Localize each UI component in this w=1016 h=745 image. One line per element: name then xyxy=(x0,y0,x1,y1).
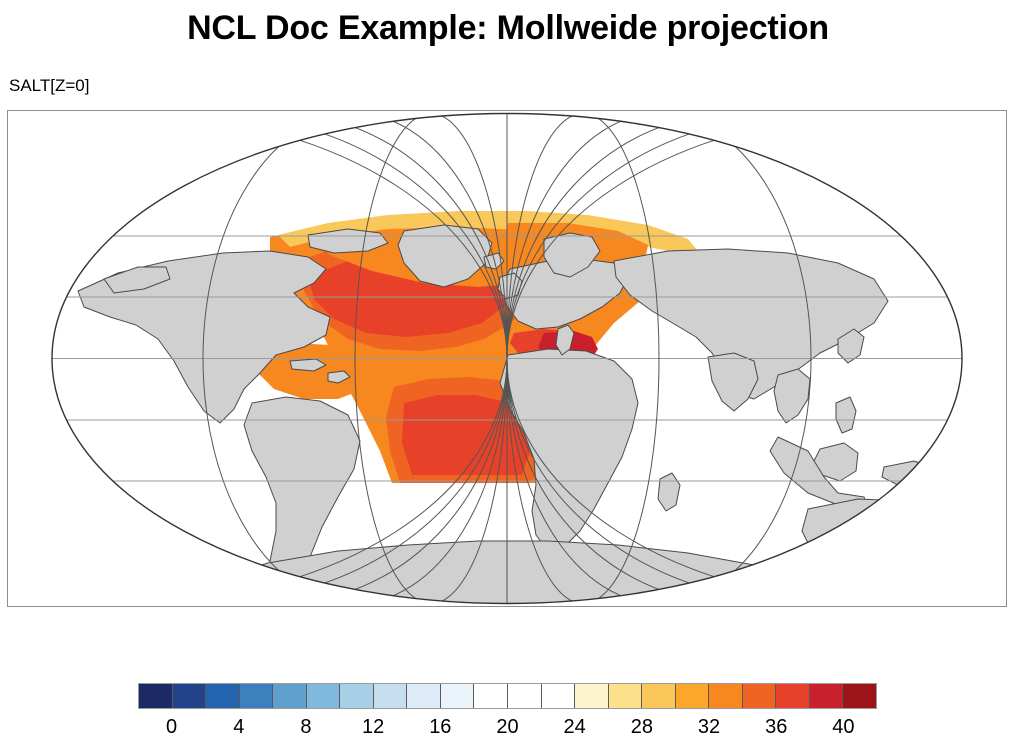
colorbar-cell-19 xyxy=(776,684,810,708)
colorbar-cell-20 xyxy=(810,684,844,708)
mollweide-map-canvas xyxy=(8,111,1006,606)
colorbar-cell-17 xyxy=(709,684,743,708)
land-australia xyxy=(802,499,948,581)
colorbar-cell-13 xyxy=(575,684,609,708)
mollweide-map-plot: NCL Doc Example: Mollweide projection SA… xyxy=(0,0,1016,745)
colorbar-cells xyxy=(138,683,877,709)
colorbar-cell-9 xyxy=(441,684,475,708)
colorbar-cell-8 xyxy=(407,684,441,708)
colorbar-tick-40: 40 xyxy=(832,714,854,740)
page-title: NCL Doc Example: Mollweide projection xyxy=(0,6,1016,50)
colorbar-cell-15 xyxy=(642,684,676,708)
land-new-zealand xyxy=(956,557,976,583)
map-frame xyxy=(7,110,1007,607)
colorbar-tick-28: 28 xyxy=(631,714,653,740)
colorbar-cell-21 xyxy=(843,684,876,708)
colorbar-cell-5 xyxy=(307,684,341,708)
colorbar-tick-labels: 0481216202428323640 xyxy=(0,714,1016,742)
colorbar-cell-3 xyxy=(240,684,274,708)
colorbar xyxy=(138,683,877,709)
colorbar-tick-16: 16 xyxy=(429,714,451,740)
colorbar-cell-7 xyxy=(374,684,408,708)
land-layer xyxy=(78,225,976,606)
colorbar-tick-24: 24 xyxy=(564,714,586,740)
colorbar-tick-4: 4 xyxy=(233,714,244,740)
colorbar-cell-1 xyxy=(173,684,207,708)
colorbar-tick-0: 0 xyxy=(166,714,177,740)
colorbar-cell-6 xyxy=(340,684,374,708)
colorbar-cell-11 xyxy=(508,684,542,708)
colorbar-cell-16 xyxy=(676,684,710,708)
colorbar-tick-36: 36 xyxy=(765,714,787,740)
variable-label: SALT[Z=0] xyxy=(9,76,89,96)
colorbar-tick-12: 12 xyxy=(362,714,384,740)
colorbar-tick-20: 20 xyxy=(496,714,518,740)
colorbar-cell-18 xyxy=(743,684,777,708)
colorbar-cell-2 xyxy=(206,684,240,708)
colorbar-cell-14 xyxy=(609,684,643,708)
colorbar-cell-0 xyxy=(139,684,173,708)
colorbar-cell-4 xyxy=(273,684,307,708)
colorbar-cell-10 xyxy=(474,684,508,708)
colorbar-tick-8: 8 xyxy=(300,714,311,740)
colorbar-tick-32: 32 xyxy=(698,714,720,740)
colorbar-cell-12 xyxy=(542,684,576,708)
